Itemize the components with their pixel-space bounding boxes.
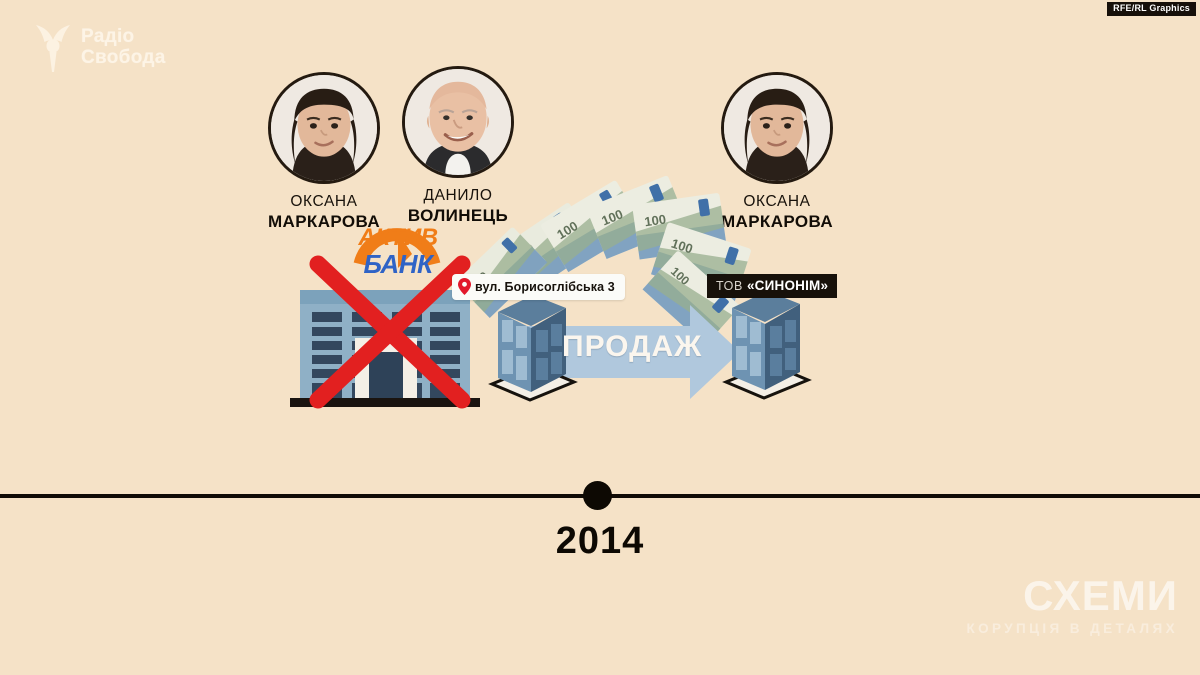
company-prefix: ТОВ bbox=[716, 279, 743, 293]
office-building-icon-target bbox=[726, 291, 808, 398]
bank-logo-word-bank: БАНК bbox=[338, 251, 458, 277]
address-badge: вул. Борисоглібська 3 bbox=[452, 274, 625, 300]
scene-graphics: 100 100 100 bbox=[0, 0, 1200, 500]
sale-arrow-label: ПРОДАЖ bbox=[562, 330, 702, 364]
infographic-canvas: RFE/RL Graphics Радіо Свобода bbox=[0, 0, 1200, 675]
bank-logo-word-aktiv: АКТИВ bbox=[338, 226, 458, 250]
timeline-dot-icon bbox=[583, 481, 612, 510]
company-badge: ТОВ «СИНОНІМ» bbox=[707, 274, 837, 298]
timeline-year-label: 2014 bbox=[0, 520, 1200, 563]
svg-text:100: 100 bbox=[643, 211, 667, 229]
watermark-subtitle: КОРУПЦІЯ В ДЕТАЛЯХ bbox=[966, 622, 1178, 636]
schemes-watermark: СХЕМИ КОРУПЦІЯ В ДЕТАЛЯХ bbox=[966, 575, 1178, 636]
map-pin-icon bbox=[458, 278, 471, 295]
company-name: «СИНОНІМ» bbox=[747, 278, 828, 293]
address-text: вул. Борисоглібська 3 bbox=[475, 280, 615, 294]
watermark-title: СХЕМИ bbox=[966, 575, 1178, 617]
aktiv-bank-logo: АКТИВ БАНК bbox=[338, 226, 458, 277]
